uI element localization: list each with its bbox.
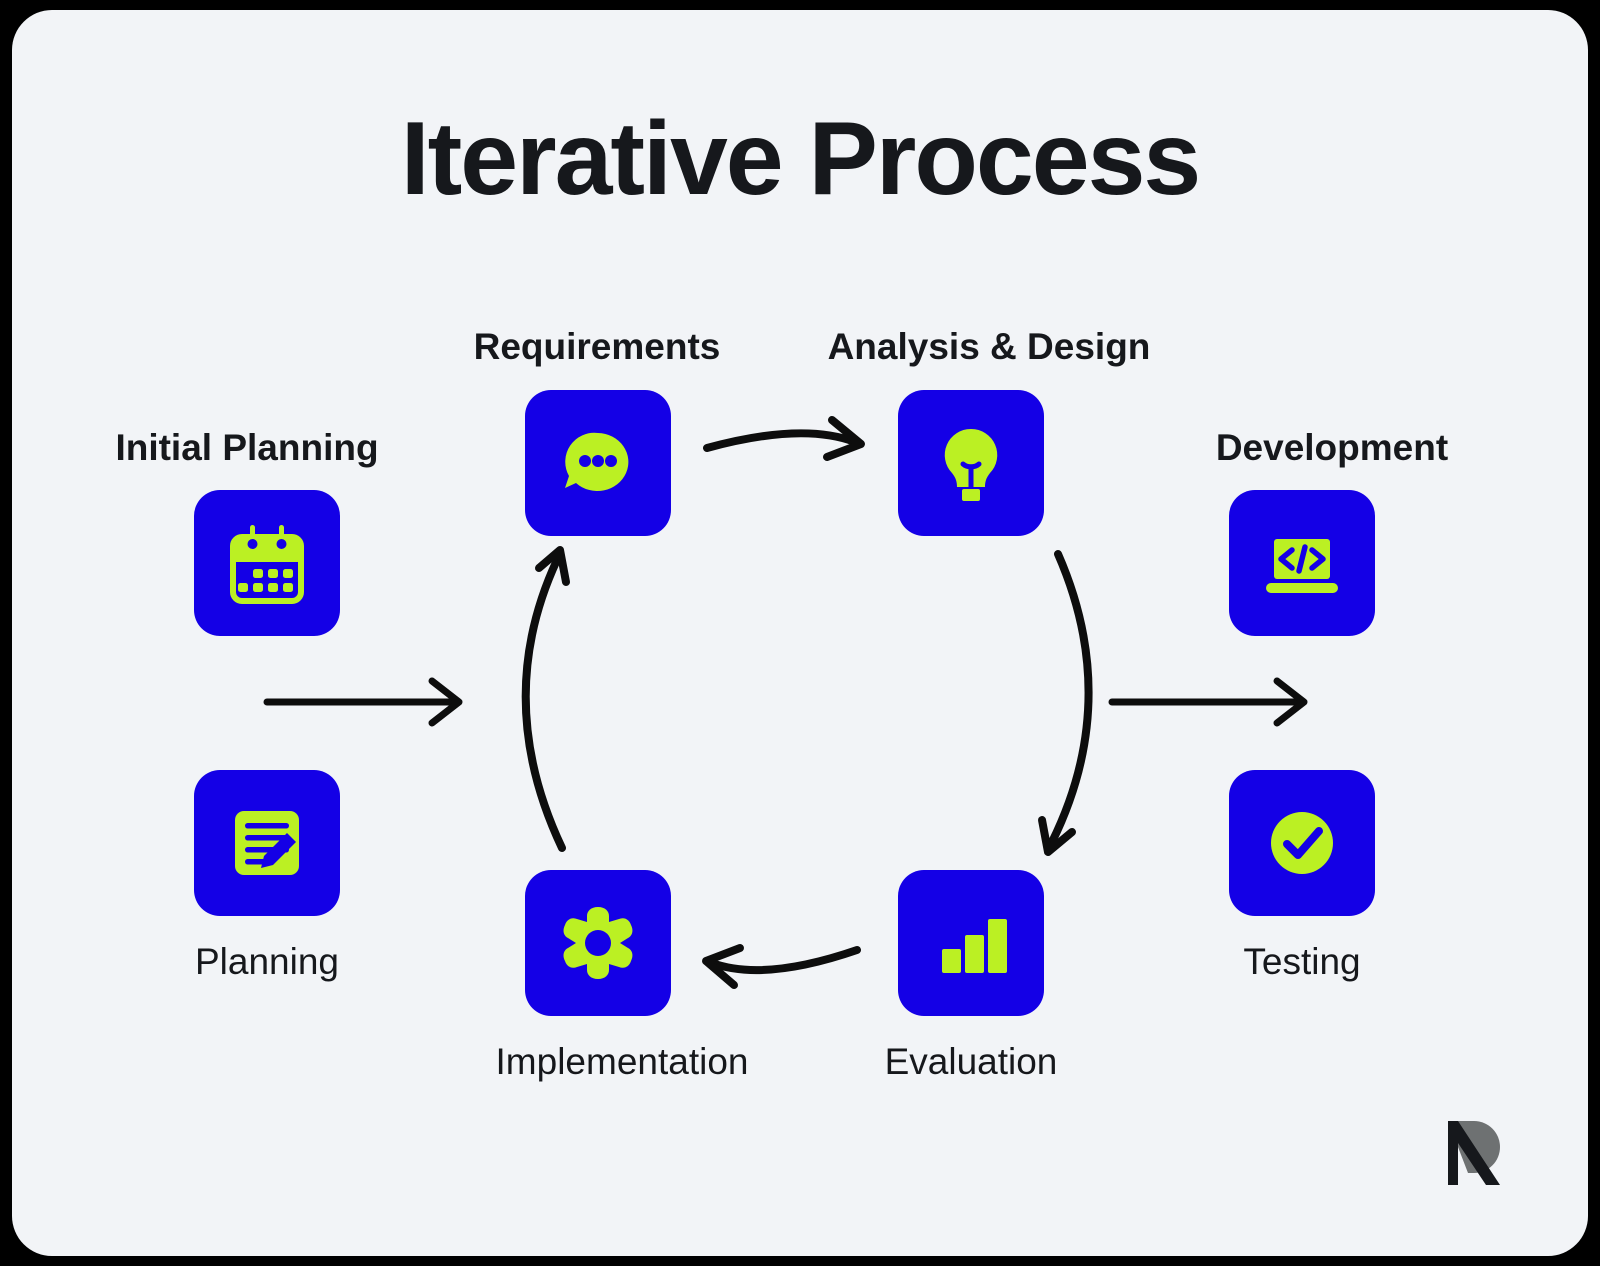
- tile-requirements[interactable]: [525, 390, 671, 536]
- label-implementation: Implementation: [422, 1042, 822, 1083]
- calendar-icon: [221, 517, 313, 609]
- laptop-code-icon: [1256, 517, 1348, 609]
- label-development: Development: [1142, 428, 1522, 469]
- connector-implementation-to-requirements: [526, 550, 566, 848]
- label-planning: Planning: [102, 942, 432, 983]
- connector-analysis-to-evaluation: [1042, 554, 1089, 852]
- r-logo: [1444, 1117, 1512, 1194]
- diagram-card: Iterative Process: [12, 10, 1588, 1256]
- tile-implementation[interactable]: [525, 870, 671, 1016]
- note-pencil-icon: [221, 797, 313, 889]
- label-analysis-design: Analysis & Design: [774, 327, 1204, 368]
- connector-evaluation-to-implementation: [706, 948, 857, 985]
- lightbulb-icon: [925, 417, 1017, 509]
- tile-analysis-design[interactable]: [898, 390, 1044, 536]
- label-evaluation: Evaluation: [806, 1042, 1136, 1083]
- label-initial-planning: Initial Planning: [72, 428, 422, 469]
- connector-requirements-to-analysis: [707, 420, 861, 457]
- screenshot-canvas: Iterative Process: [0, 0, 1600, 1266]
- connector-cycle-to-development: [1112, 681, 1304, 723]
- tile-development[interactable]: [1229, 490, 1375, 636]
- connector-planning-to-cycle: [267, 681, 459, 723]
- tile-testing[interactable]: [1229, 770, 1375, 916]
- label-testing: Testing: [1137, 942, 1467, 983]
- gear-icon: [552, 897, 644, 989]
- page-title: Iterative Process: [12, 105, 1588, 214]
- speech-bubble-icon: [552, 417, 644, 509]
- tile-planning[interactable]: [194, 770, 340, 916]
- label-requirements: Requirements: [397, 327, 797, 368]
- tile-initial-planning[interactable]: [194, 490, 340, 636]
- tile-evaluation[interactable]: [898, 870, 1044, 1016]
- bar-chart-icon: [925, 897, 1017, 989]
- check-circle-icon: [1256, 797, 1348, 889]
